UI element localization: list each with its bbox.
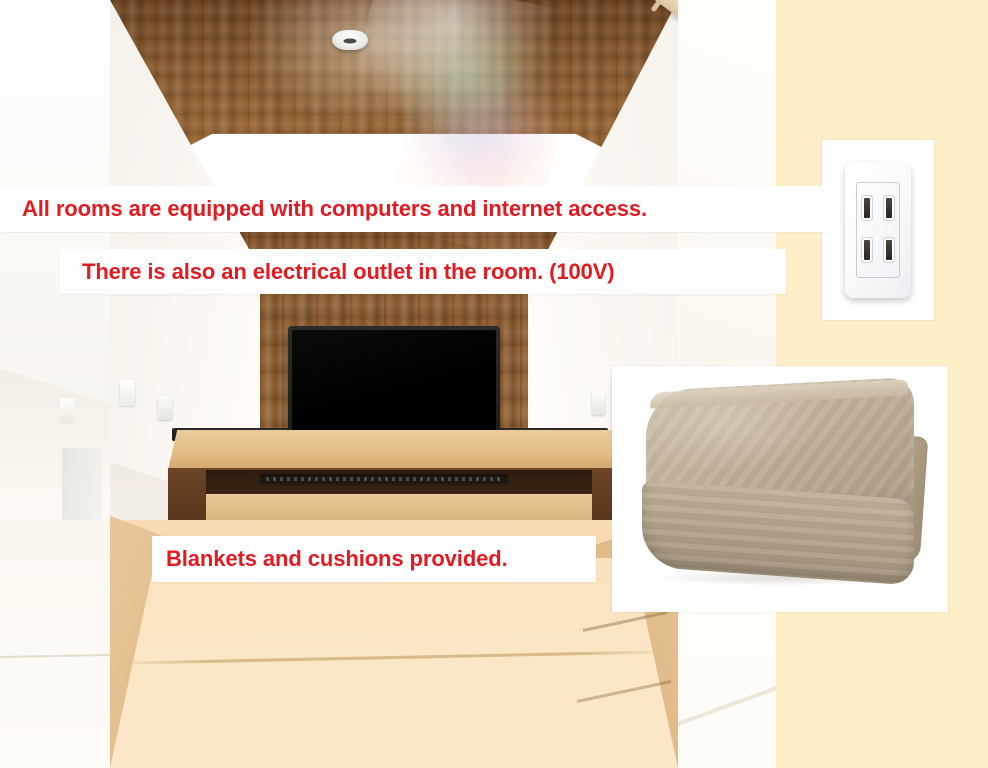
desk-drawer — [206, 494, 592, 523]
photo-left-faded-band — [0, 0, 110, 768]
outlet-inner-plate — [856, 182, 900, 278]
outlet-slot — [864, 198, 870, 218]
outlet-slot — [864, 240, 870, 260]
banner-text: All rooms are equipped with computers an… — [22, 196, 647, 222]
banner-text: Blankets and cushions provided. — [166, 546, 508, 572]
electrical-outlet-photo — [822, 140, 934, 320]
monitor — [288, 326, 500, 448]
desk-top — [168, 430, 628, 470]
monitor-screen — [292, 330, 496, 439]
outlet-slot — [886, 240, 892, 260]
outlet-receptacle-bottom — [861, 240, 895, 262]
smoke-detector-icon — [332, 30, 368, 50]
banner-blankets-cushions: Blankets and cushions provided. — [152, 536, 596, 582]
right-band-floor — [678, 600, 776, 768]
keyboard — [260, 474, 508, 485]
outlet-receptacle-top — [861, 198, 895, 220]
outlet-slot — [886, 198, 892, 218]
slide-canvas: All rooms are equipped with computers an… — [0, 0, 988, 768]
capsule-room-interior-photo — [110, 0, 678, 768]
left-band-light-switch — [60, 398, 74, 424]
wall-outlet-left — [158, 396, 172, 420]
banner-computers-internet: All rooms are equipped with computers an… — [0, 186, 828, 232]
folded-blanket-photo — [612, 366, 948, 612]
blanket-front-face — [642, 480, 914, 585]
banner-text: There is also an electrical outlet in th… — [82, 259, 615, 285]
banner-electrical-outlet: There is also an electrical outlet in th… — [60, 249, 786, 294]
left-band-floor — [0, 520, 110, 768]
folded-blanket — [636, 384, 924, 588]
wall-light-switch — [120, 380, 135, 406]
wall-outlet-right — [592, 392, 605, 415]
outlet-faceplate — [845, 162, 911, 298]
